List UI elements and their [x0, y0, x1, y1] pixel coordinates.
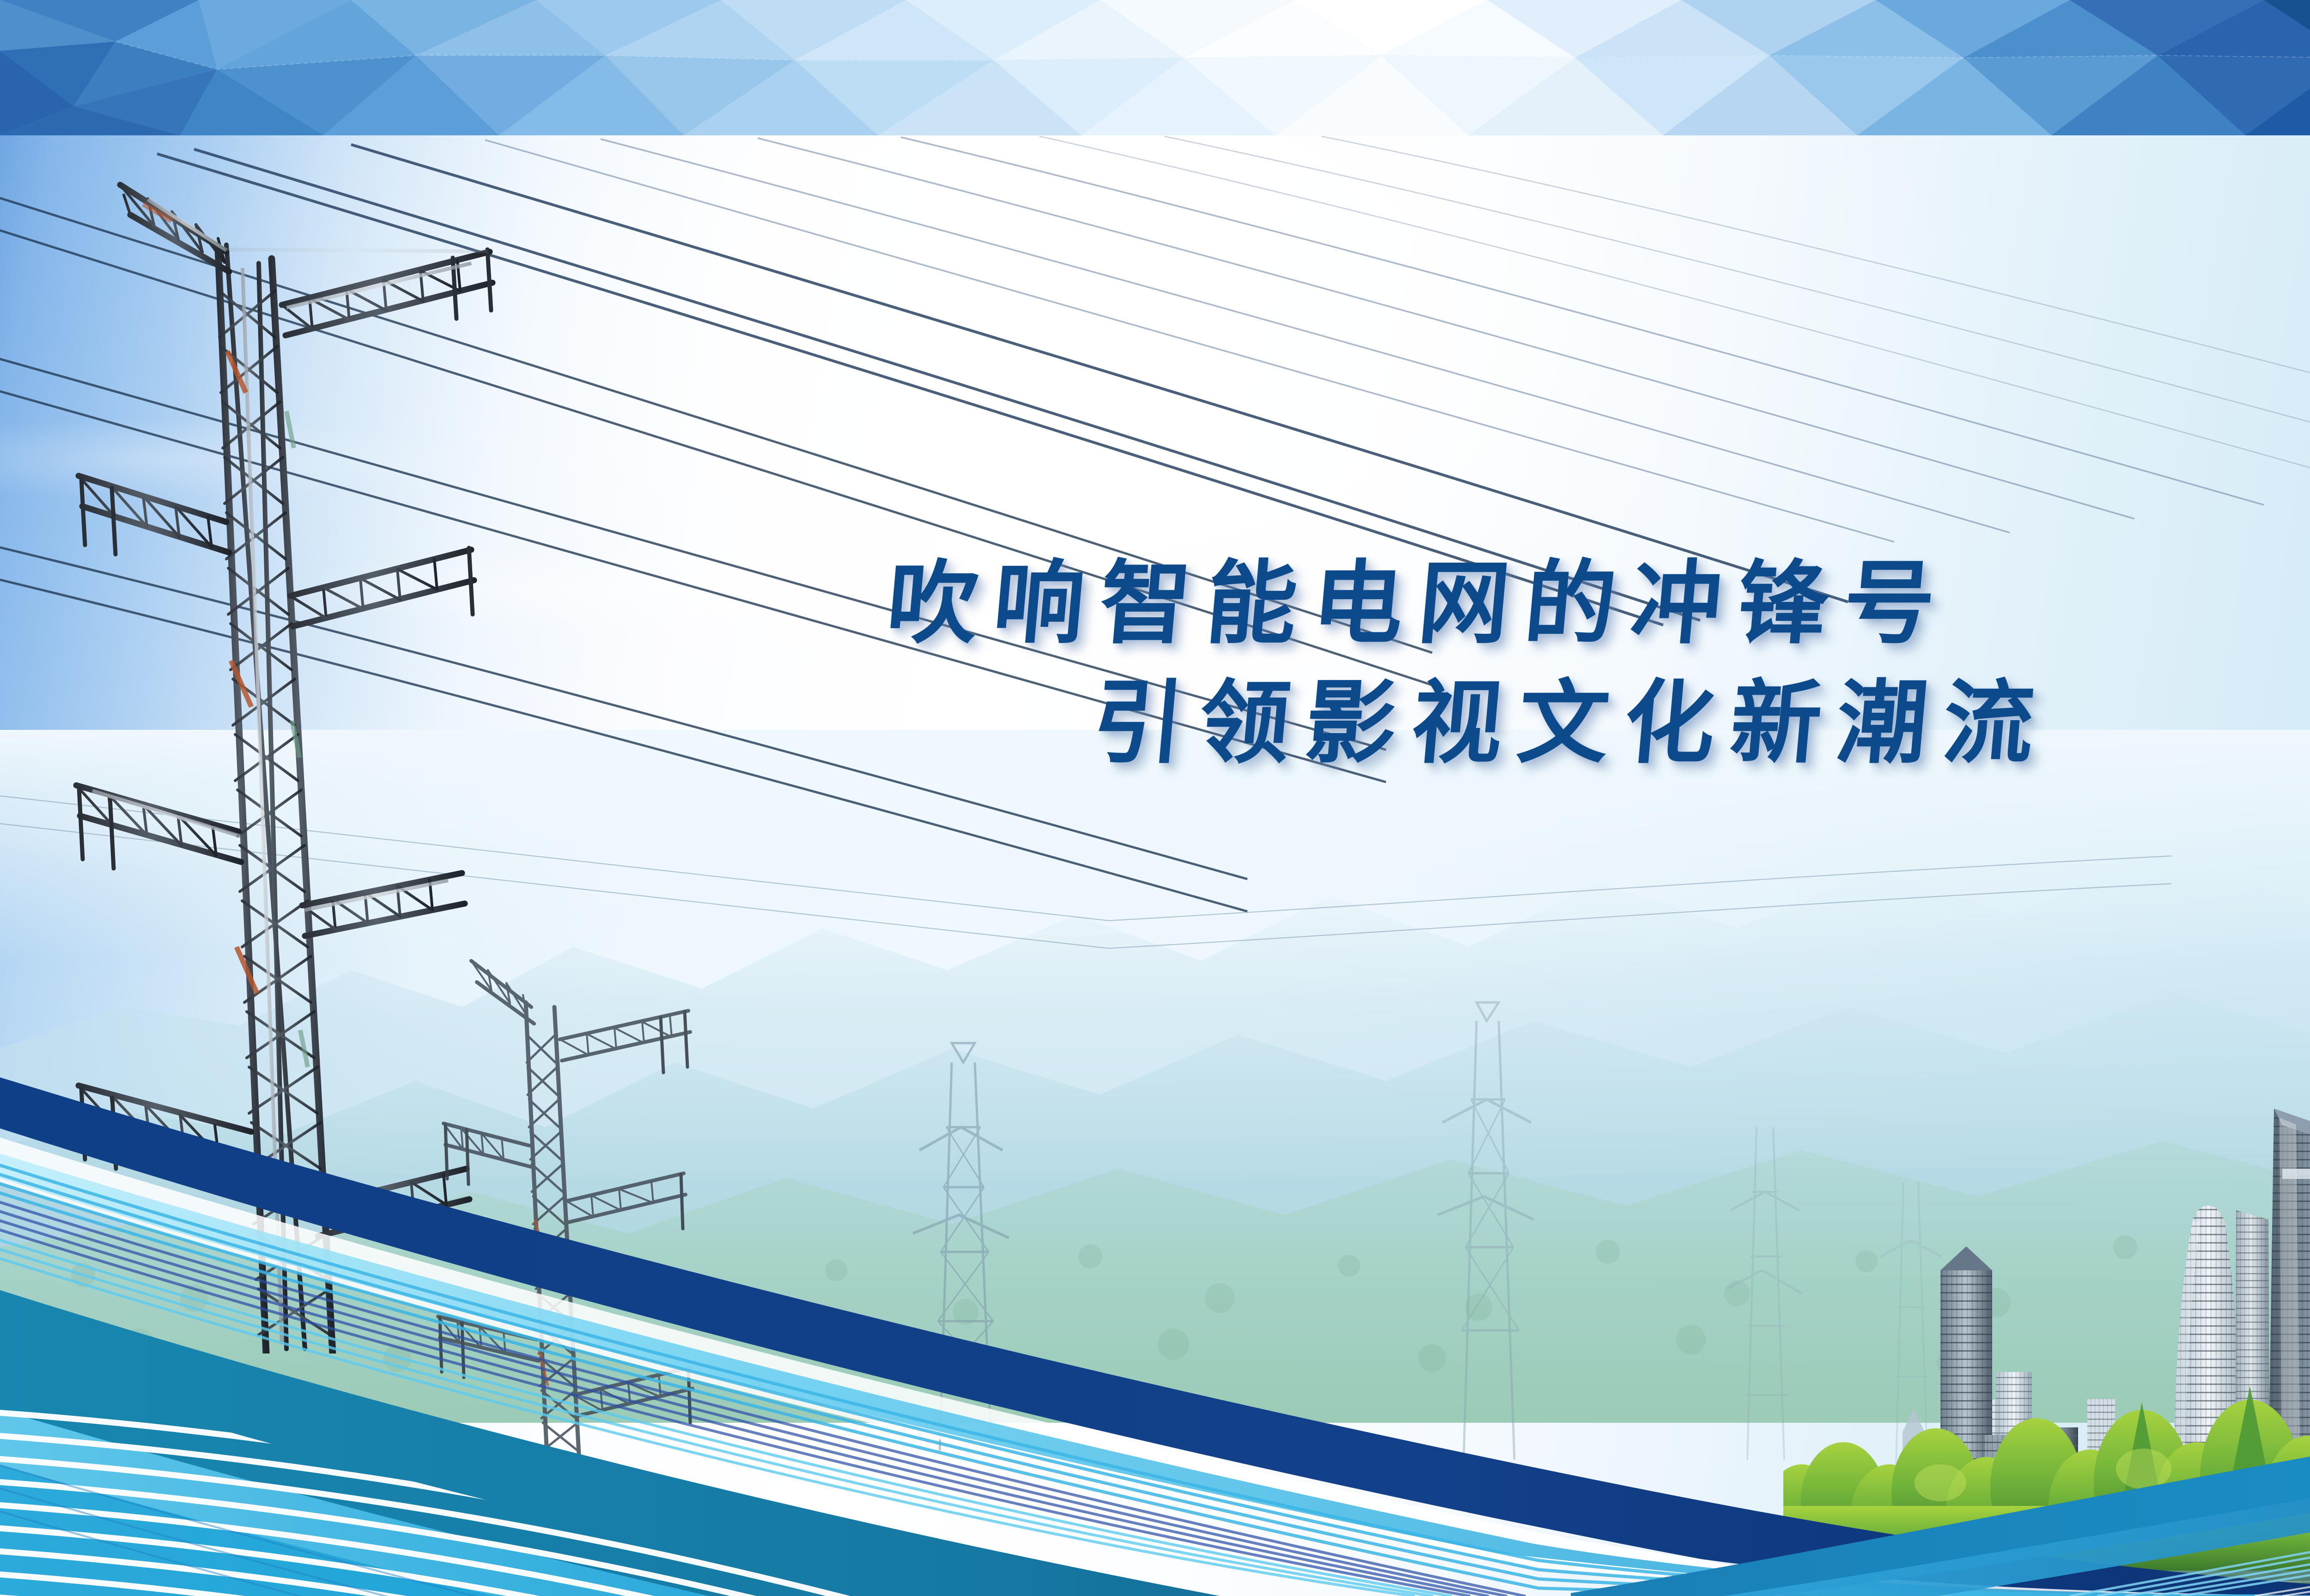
poly-triangles	[0, 0, 2310, 135]
poster-banner: 吹响智能电网的冲锋号 引领影视文化新潮流	[0, 0, 2310, 1596]
low-poly-header-band	[0, 0, 2310, 135]
wave-ribbon-right	[1571, 1363, 2310, 1596]
